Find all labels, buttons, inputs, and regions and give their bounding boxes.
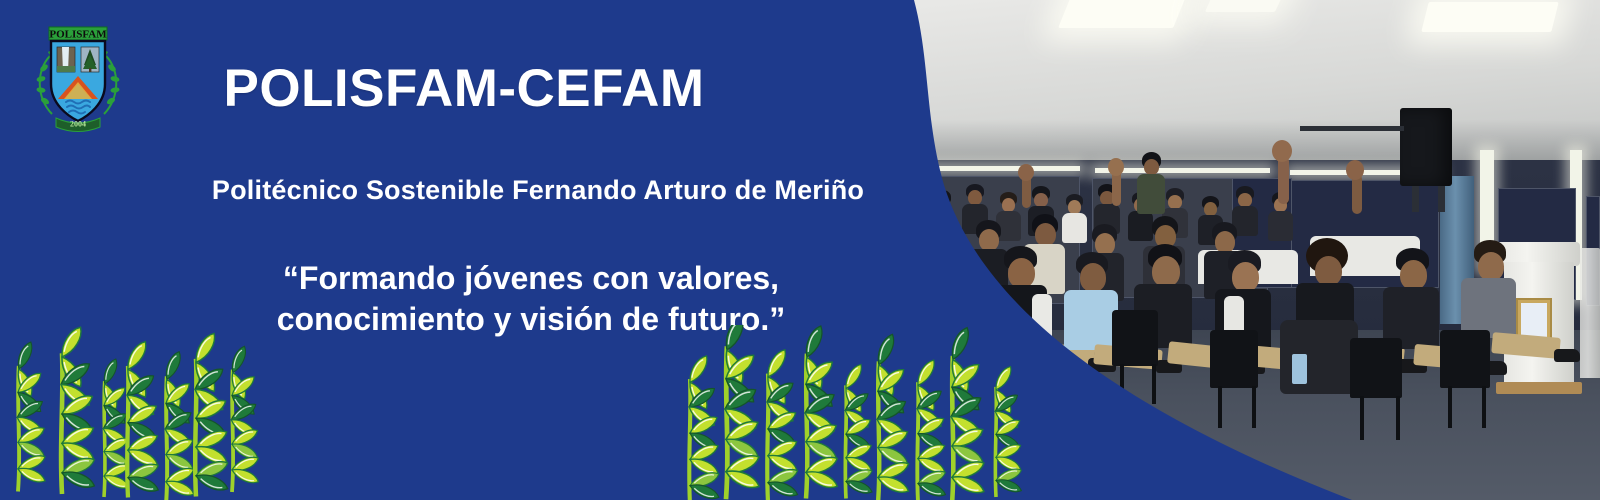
chair-leg (1448, 386, 1452, 428)
speaker-cable (1300, 126, 1404, 131)
chair (1210, 330, 1258, 388)
crest-banner-text: POLISFAM (49, 29, 107, 41)
institution-banner: POLISFAM 2004 POLISFAM-CEFA (0, 0, 1600, 500)
raised-hand (1272, 140, 1292, 162)
raised-hand (1346, 160, 1364, 180)
chair (1350, 338, 1402, 398)
chair-leg (1360, 396, 1364, 440)
ceiling-light (1421, 2, 1558, 32)
plant-cluster-right (686, 325, 1024, 500)
chair-leg (1152, 364, 1156, 404)
page-title-text: POLISFAM-CEFAM (223, 58, 704, 119)
chair-leg (1252, 386, 1256, 428)
water-bottle (1292, 354, 1307, 384)
ceiling-light (1205, 0, 1285, 12)
institution-subtitle: Politécnico Sostenible Fernando Arturo d… (0, 175, 1076, 206)
page-title: POLISFAM-CEFAM (0, 58, 912, 119)
chair-leg (1396, 396, 1400, 440)
chair (1440, 330, 1490, 388)
raised-hand (1108, 158, 1124, 176)
raised-arm (1278, 156, 1289, 204)
chair-leg (1120, 364, 1124, 404)
raised-arm (1352, 174, 1362, 214)
chair-leg (1218, 386, 1222, 428)
ceiling-light (1058, 0, 1187, 28)
crest-year-text: 2004 (70, 120, 86, 129)
strip-light (910, 166, 1080, 171)
plant-cluster-left (14, 325, 260, 500)
loudspeaker (1400, 108, 1452, 186)
chair (1112, 310, 1158, 366)
plant-decoration (0, 325, 1090, 500)
chair-leg (1482, 386, 1486, 428)
